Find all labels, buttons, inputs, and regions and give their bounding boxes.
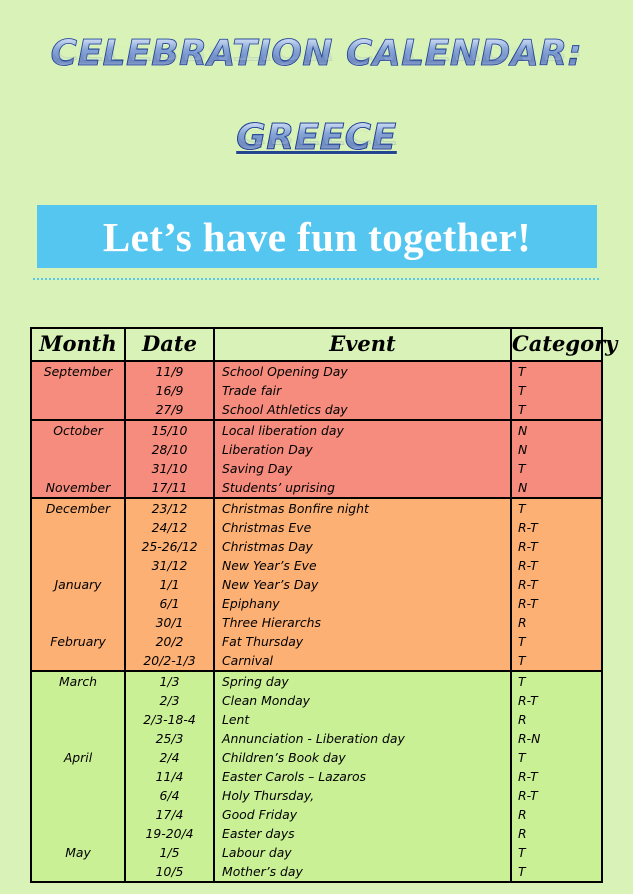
table-row: 30/1Three HierarchsR — [31, 613, 602, 632]
category-cell: T — [511, 748, 602, 767]
category-cell: R-T — [511, 767, 602, 786]
category-cell: R — [511, 710, 602, 729]
table-row: April2/4Children’s Book dayT — [31, 748, 602, 767]
table-row: September11/9School Opening DayT — [31, 361, 602, 381]
month-cell: February — [31, 632, 125, 651]
date-cell: 28/10 — [125, 440, 214, 459]
divider-dotted-rule — [33, 278, 599, 280]
month-cell — [31, 594, 125, 613]
category-cell: T — [511, 400, 602, 420]
event-cell: Good Friday — [214, 805, 511, 824]
category-cell: N — [511, 478, 602, 498]
event-cell: Lent — [214, 710, 511, 729]
table-body: September11/9School Opening DayT16/9Trad… — [31, 361, 602, 882]
category-cell: T — [511, 459, 602, 478]
month-cell — [31, 710, 125, 729]
table-row: January1/1New Year’s DayR-T — [31, 575, 602, 594]
event-cell: Epiphany — [214, 594, 511, 613]
table-row: 24/12Christmas EveR-T — [31, 518, 602, 537]
title-line-1: CELEBRATION CALENDAR: CELEBRATION CALEND… — [0, 36, 633, 98]
column-header-month: Month — [31, 328, 125, 361]
event-cell: Saving Day — [214, 459, 511, 478]
title-line-2: GREECE GREECE — [0, 120, 633, 182]
category-cell: T — [511, 381, 602, 400]
event-cell: New Year’s Day — [214, 575, 511, 594]
date-cell: 25/3 — [125, 729, 214, 748]
date-cell: 31/10 — [125, 459, 214, 478]
date-cell: 2/3-18-4 — [125, 710, 214, 729]
category-cell: R — [511, 805, 602, 824]
date-cell: 2/3 — [125, 691, 214, 710]
month-cell — [31, 767, 125, 786]
event-cell: Children’s Book day — [214, 748, 511, 767]
month-cell: December — [31, 498, 125, 518]
date-cell: 20/2-1/3 — [125, 651, 214, 671]
celebration-calendar-table: Month Date Event Category September11/9S… — [30, 327, 603, 883]
table-row: November17/11Students’ uprisingN — [31, 478, 602, 498]
month-cell — [31, 518, 125, 537]
table-header-row: Month Date Event Category — [31, 328, 602, 361]
month-cell: November — [31, 478, 125, 498]
title-text-country: GREECE — [236, 120, 396, 156]
month-cell — [31, 556, 125, 575]
date-cell: 31/12 — [125, 556, 214, 575]
month-cell — [31, 805, 125, 824]
date-cell: 11/9 — [125, 361, 214, 381]
month-cell — [31, 459, 125, 478]
category-cell: T — [511, 498, 602, 518]
event-cell: Easter days — [214, 824, 511, 843]
date-cell: 17/4 — [125, 805, 214, 824]
date-cell: 15/10 — [125, 420, 214, 440]
category-cell: N — [511, 420, 602, 440]
date-cell: 6/4 — [125, 786, 214, 805]
page-title-block: CELEBRATION CALENDAR: CELEBRATION CALEND… — [0, 36, 633, 190]
event-cell: Labour day — [214, 843, 511, 862]
table-row: 11/4Easter Carols – LazarosR-T — [31, 767, 602, 786]
event-cell: Trade fair — [214, 381, 511, 400]
column-header-category: Category — [511, 328, 602, 361]
category-cell: T — [511, 651, 602, 671]
table-row: 27/9School Athletics dayT — [31, 400, 602, 420]
date-cell: 25-26/12 — [125, 537, 214, 556]
event-cell: Christmas Day — [214, 537, 511, 556]
event-cell: Local liberation day — [214, 420, 511, 440]
date-cell: 17/11 — [125, 478, 214, 498]
event-cell: Clean Monday — [214, 691, 511, 710]
month-cell — [31, 729, 125, 748]
table-row: October15/10Local liberation dayN — [31, 420, 602, 440]
event-cell: Mother’s day — [214, 862, 511, 882]
month-cell: September — [31, 361, 125, 381]
category-cell: R-T — [511, 556, 602, 575]
event-cell: Holy Thursday, — [214, 786, 511, 805]
event-cell: Fat Thursday — [214, 632, 511, 651]
event-cell: Annunciation - Liberation day — [214, 729, 511, 748]
month-cell — [31, 691, 125, 710]
date-cell: 6/1 — [125, 594, 214, 613]
column-header-event: Event — [214, 328, 511, 361]
date-cell: 10/5 — [125, 862, 214, 882]
month-cell — [31, 613, 125, 632]
category-cell: R-T — [511, 786, 602, 805]
category-cell: R-T — [511, 537, 602, 556]
table-row: February20/2Fat ThursdayT — [31, 632, 602, 651]
category-cell: R — [511, 824, 602, 843]
table-row: December23/12Christmas Bonfire nightT — [31, 498, 602, 518]
subtitle-banner-text: Let’s have fun together! — [103, 213, 531, 261]
table-row: 16/9Trade fairT — [31, 381, 602, 400]
table-row: 2/3Clean MondayR-T — [31, 691, 602, 710]
category-cell: T — [511, 361, 602, 381]
table-row: 31/12 New Year’s EveR-T — [31, 556, 602, 575]
date-cell: 16/9 — [125, 381, 214, 400]
month-cell — [31, 440, 125, 459]
month-cell — [31, 786, 125, 805]
category-cell: N — [511, 440, 602, 459]
month-cell: May — [31, 843, 125, 862]
table-row: 10/5Mother’s dayT — [31, 862, 602, 882]
month-cell — [31, 824, 125, 843]
date-cell: 23/12 — [125, 498, 214, 518]
month-cell: October — [31, 420, 125, 440]
table-row: 20/2-1/3CarnivalT — [31, 651, 602, 671]
category-cell: R-T — [511, 594, 602, 613]
category-cell: R-T — [511, 518, 602, 537]
month-cell: January — [31, 575, 125, 594]
date-cell: 11/4 — [125, 767, 214, 786]
date-cell: 27/9 — [125, 400, 214, 420]
date-cell: 2/4 — [125, 748, 214, 767]
event-cell: New Year’s Eve — [214, 556, 511, 575]
table-row: March1/3Spring dayT — [31, 671, 602, 691]
table-row: 17/4Good FridayR — [31, 805, 602, 824]
table-row: 6/4Holy Thursday,R-T — [31, 786, 602, 805]
month-cell — [31, 862, 125, 882]
event-cell: School Opening Day — [214, 361, 511, 381]
date-cell: 1/1 — [125, 575, 214, 594]
category-cell: R-T — [511, 691, 602, 710]
month-cell — [31, 537, 125, 556]
category-cell: R — [511, 613, 602, 632]
table-row: 2/3-18-4LentR — [31, 710, 602, 729]
category-cell: R-T — [511, 575, 602, 594]
date-cell: 19-20/4 — [125, 824, 214, 843]
event-cell: Easter Carols – Lazaros — [214, 767, 511, 786]
event-cell: Christmas Bonfire night — [214, 498, 511, 518]
table-row: 6/1EpiphanyR-T — [31, 594, 602, 613]
month-cell: April — [31, 748, 125, 767]
category-cell: R-N — [511, 729, 602, 748]
event-cell: Carnival — [214, 651, 511, 671]
date-cell: 1/3 — [125, 671, 214, 691]
table-row: 25-26/12Christmas DayR-T — [31, 537, 602, 556]
month-cell: March — [31, 671, 125, 691]
category-cell: T — [511, 843, 602, 862]
category-cell: T — [511, 671, 602, 691]
date-cell: 24/12 — [125, 518, 214, 537]
table-row: May1/5Labour dayT — [31, 843, 602, 862]
date-cell: 1/5 — [125, 843, 214, 862]
table-row: 25/3Annunciation - Liberation dayR-N — [31, 729, 602, 748]
month-cell — [31, 400, 125, 420]
date-cell: 20/2 — [125, 632, 214, 651]
event-cell: School Athletics day — [214, 400, 511, 420]
event-cell: Students’ uprising — [214, 478, 511, 498]
month-cell — [31, 651, 125, 671]
column-header-date: Date — [125, 328, 214, 361]
title-text-primary: CELEBRATION CALENDAR: — [51, 36, 583, 72]
table-row: 28/10Liberation DayN — [31, 440, 602, 459]
event-cell: Liberation Day — [214, 440, 511, 459]
event-cell: Spring day — [214, 671, 511, 691]
month-cell — [31, 381, 125, 400]
table-row: 31/10Saving DayT — [31, 459, 602, 478]
table-row: 19-20/4Easter daysR — [31, 824, 602, 843]
event-cell: Three Hierarchs — [214, 613, 511, 632]
event-cell: Christmas Eve — [214, 518, 511, 537]
category-cell: T — [511, 632, 602, 651]
category-cell: T — [511, 862, 602, 882]
subtitle-banner: Let’s have fun together! — [37, 205, 597, 268]
date-cell: 30/1 — [125, 613, 214, 632]
